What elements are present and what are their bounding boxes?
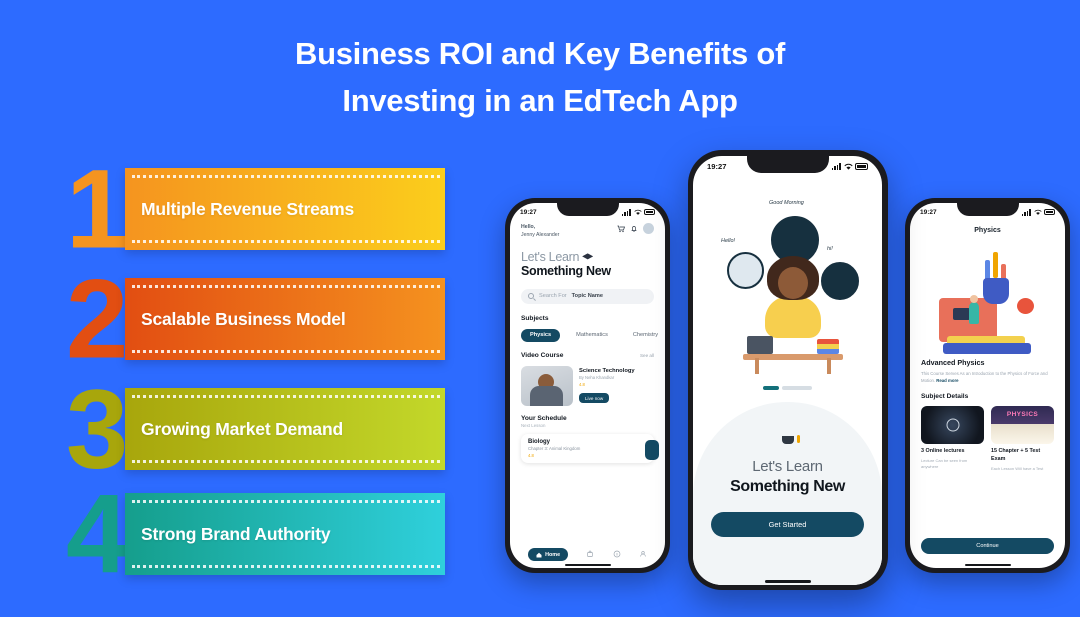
video-course-header: Video Course See all [521, 352, 654, 359]
phone-right-screen: 19:27 Physics [910, 203, 1065, 568]
schedule-sub: Next Lesson [521, 423, 654, 428]
right-course-title: Advanced Physics [921, 358, 1054, 367]
pencil-orange [993, 252, 998, 278]
status-icons-left [622, 209, 655, 216]
home-icon [536, 552, 542, 558]
greeting-hello: Hello, [521, 224, 535, 230]
course-thumbnail [521, 366, 573, 406]
subject-chip-physics[interactable]: Physics [521, 329, 560, 342]
infographic-canvas: Business ROI and Key Benefits of Investi… [0, 0, 1080, 617]
books-icon [817, 339, 839, 354]
person-icon [639, 550, 647, 558]
header-actions [617, 223, 654, 234]
subject-chip-chemistry[interactable]: Chemistry [624, 329, 665, 342]
onboarding-content: Hello! Good Morning hi! [693, 156, 882, 585]
center-headline-bold: Something New [693, 478, 882, 496]
bag-icon [586, 550, 594, 558]
course-rating: 4.8 [579, 382, 635, 387]
lesson-go-button[interactable] [645, 440, 659, 460]
nav-info[interactable] [613, 550, 621, 560]
bubble-label-2: Good Morning [769, 200, 804, 206]
course-card[interactable]: Science Technology By Neha Khandkar 4.8 … [521, 366, 654, 406]
detail-card-1-title: 3 Online lectures [921, 448, 984, 456]
book-blue [943, 343, 1031, 354]
live-now-badge[interactable]: Live now [579, 393, 609, 403]
laptop-icon [953, 308, 970, 320]
greeting-text: Hello, Jenny Alexander [521, 223, 559, 240]
greeting-name: Jenny Alexander [521, 231, 559, 239]
chapters-thumbnail [991, 406, 1054, 444]
get-started-button[interactable]: Get Started [711, 512, 864, 537]
course-info: Science Technology By Neha Khandkar 4.8 … [579, 366, 635, 406]
status-icons-right [1022, 209, 1055, 216]
benefit-bar-1: Multiple Revenue Streams [125, 168, 445, 250]
signal-icon [622, 209, 631, 216]
apple-icon [1017, 298, 1034, 314]
nav-bag[interactable] [586, 550, 594, 560]
subject-details-title: Subject Details [921, 393, 1054, 400]
subject-chips: Physics Mathematics Chemistry [521, 329, 654, 342]
detail-card-1[interactable]: 3 Online lectures Lecture Can be seen fr… [921, 406, 984, 472]
schedule-title: Your Schedule [521, 415, 654, 422]
video-course-title: Video Course [521, 352, 563, 359]
bubble-label-1: Hello! [721, 238, 735, 244]
lectures-thumbnail [921, 406, 984, 444]
cap-tassel [797, 435, 800, 443]
benefit-label-1: Multiple Revenue Streams [125, 196, 364, 222]
notch-icon [957, 203, 1019, 216]
course-author: By Neha Khandkar [579, 375, 635, 380]
wifi-icon [634, 209, 642, 216]
detail-card-2[interactable]: 15 Chapter + 5 Test Exam Each Lesson Wil… [991, 406, 1054, 472]
status-time-center: 19:27 [707, 162, 726, 171]
phone-right-content: Physics Advanced Physics [910, 203, 1065, 568]
search-placeholder-pre: Search For [539, 293, 567, 299]
status-time-left: 19:27 [520, 209, 537, 216]
left-headline-bold: Something New [521, 264, 654, 278]
desk-leg-right [827, 358, 831, 374]
student-torso [765, 296, 821, 338]
detail-card-2-title: 15 Chapter + 5 Test Exam [991, 448, 1054, 464]
benefits-list: 1 Multiple Revenue Streams 2 Scalable Bu… [0, 168, 470, 583]
detail-card-2-sub: Each Lesson Will have a Test [991, 466, 1054, 472]
subjects-title: Subjects [521, 315, 654, 322]
right-page-title: Physics [921, 227, 1054, 234]
graduation-cap-icon [775, 428, 801, 445]
bubble-label-3: hi! [827, 246, 833, 252]
battery-icon [644, 209, 655, 215]
laptop-icon [747, 336, 773, 354]
benefit-item-3[interactable]: 3 Growing Market Demand [70, 388, 445, 470]
lesson-chapter: Chapter 3: Animal Kingdom [528, 446, 647, 451]
avatar[interactable] [643, 223, 654, 234]
status-icons-center [832, 163, 868, 171]
continue-button[interactable]: Continue [921, 538, 1054, 554]
battery-icon [855, 163, 868, 170]
bell-icon [630, 225, 638, 233]
course-name: Science Technology [579, 368, 635, 374]
search-icon [528, 293, 534, 299]
student-figure [969, 302, 979, 324]
cart-icon [617, 225, 625, 233]
title-line-2: Investing in an EdTech App [0, 77, 1080, 124]
benefit-item-1[interactable]: 1 Multiple Revenue Streams [70, 168, 445, 250]
nav-profile[interactable] [639, 550, 647, 560]
detail-card-1-sub: Lecture Can be seen from anywhere [921, 458, 984, 470]
page-title: Business ROI and Key Benefits of Investi… [0, 30, 1080, 124]
onboarding-illustration: Hello! Good Morning hi! [693, 182, 882, 380]
benefit-number-1: 1 [66, 165, 123, 252]
center-headline-light: Let's Learn [693, 458, 882, 475]
phone-mockups: 19:27 Hello, Jenny Alexander [495, 150, 1080, 617]
lesson-card[interactable]: Biology Chapter 3: Animal Kingdom 4.8 [521, 434, 654, 463]
lesson-name: Biology [528, 439, 647, 445]
detail-cards: 3 Online lectures Lecture Can be seen fr… [921, 406, 1054, 472]
left-headline-light: Let's Learn [521, 250, 579, 264]
benefit-number-2: 2 [66, 275, 123, 362]
progress-dot-active [763, 386, 779, 390]
phone-left-content: Hello, Jenny Alexander Let's Learn Somet… [510, 203, 665, 568]
onboarding-progress [693, 386, 882, 390]
schedule-section: Your Schedule Next Lesson [521, 415, 654, 428]
pen-cup [983, 278, 1009, 304]
left-headline: Let's Learn Something New [521, 250, 654, 278]
progress-dot [782, 386, 812, 390]
graduation-cap-icon [582, 253, 593, 261]
read-more-link[interactable]: Read more [936, 378, 958, 383]
desk-leg-left [755, 358, 759, 374]
benefit-label-4: Strong Brand Authority [125, 521, 340, 547]
phone-mockup-left: 19:27 Hello, Jenny Alexander [505, 198, 670, 573]
title-line-1: Business ROI and Key Benefits of [0, 30, 1080, 77]
benefit-number-4: 4 [66, 490, 123, 577]
video-course-see-all[interactable]: See all [640, 353, 654, 358]
wifi-icon [1034, 209, 1042, 216]
benefit-bar-4: Strong Brand Authority [125, 493, 445, 575]
onboarding-sheet: Let's Learn Something New Get Started [693, 402, 882, 585]
status-time-right: 19:27 [920, 209, 937, 216]
benefit-number-3: 3 [66, 385, 123, 472]
greeting-row: Hello, Jenny Alexander [521, 223, 654, 240]
signal-icon [832, 163, 841, 170]
benefit-label-3: Growing Market Demand [125, 416, 353, 442]
benefit-item-4[interactable]: 4 Strong Brand Authority [70, 493, 445, 575]
physics-illustration [921, 242, 1054, 354]
nav-home-label: Home [545, 552, 560, 558]
right-course-desc: This Course Serves As an Introduction to… [921, 370, 1054, 384]
subject-chip-mathematics[interactable]: Mathematics [567, 329, 617, 342]
notch-icon [747, 156, 829, 173]
benefit-item-2[interactable]: 2 Scalable Business Model [70, 278, 445, 360]
nav-home[interactable]: Home [528, 548, 568, 561]
student-illustration [749, 256, 837, 374]
search-placeholder-bold: Topic Name [572, 293, 603, 299]
signal-icon [1022, 209, 1031, 216]
bottom-nav: Home [510, 548, 665, 561]
student-face [778, 267, 808, 299]
phone-center-screen: 19:27 Hello! Good Morning hi! [693, 156, 882, 585]
phone-left-screen: 19:27 Hello, Jenny Alexander [510, 203, 665, 568]
cap-base [782, 436, 794, 444]
info-icon [613, 550, 621, 558]
notch-icon [557, 203, 619, 216]
benefit-label-2: Scalable Business Model [125, 306, 356, 332]
benefit-bar-3: Growing Market Demand [125, 388, 445, 470]
phone-mockup-center: 19:27 Hello! Good Morning hi! [688, 150, 888, 590]
wifi-icon [844, 163, 853, 171]
phone-mockup-right: 19:27 Physics [905, 198, 1070, 573]
lesson-rating: 4.8 [528, 453, 647, 458]
battery-icon [1044, 209, 1055, 215]
benefit-bar-2: Scalable Business Model [125, 278, 445, 360]
search-input[interactable]: Search For Topic Name [521, 289, 654, 304]
